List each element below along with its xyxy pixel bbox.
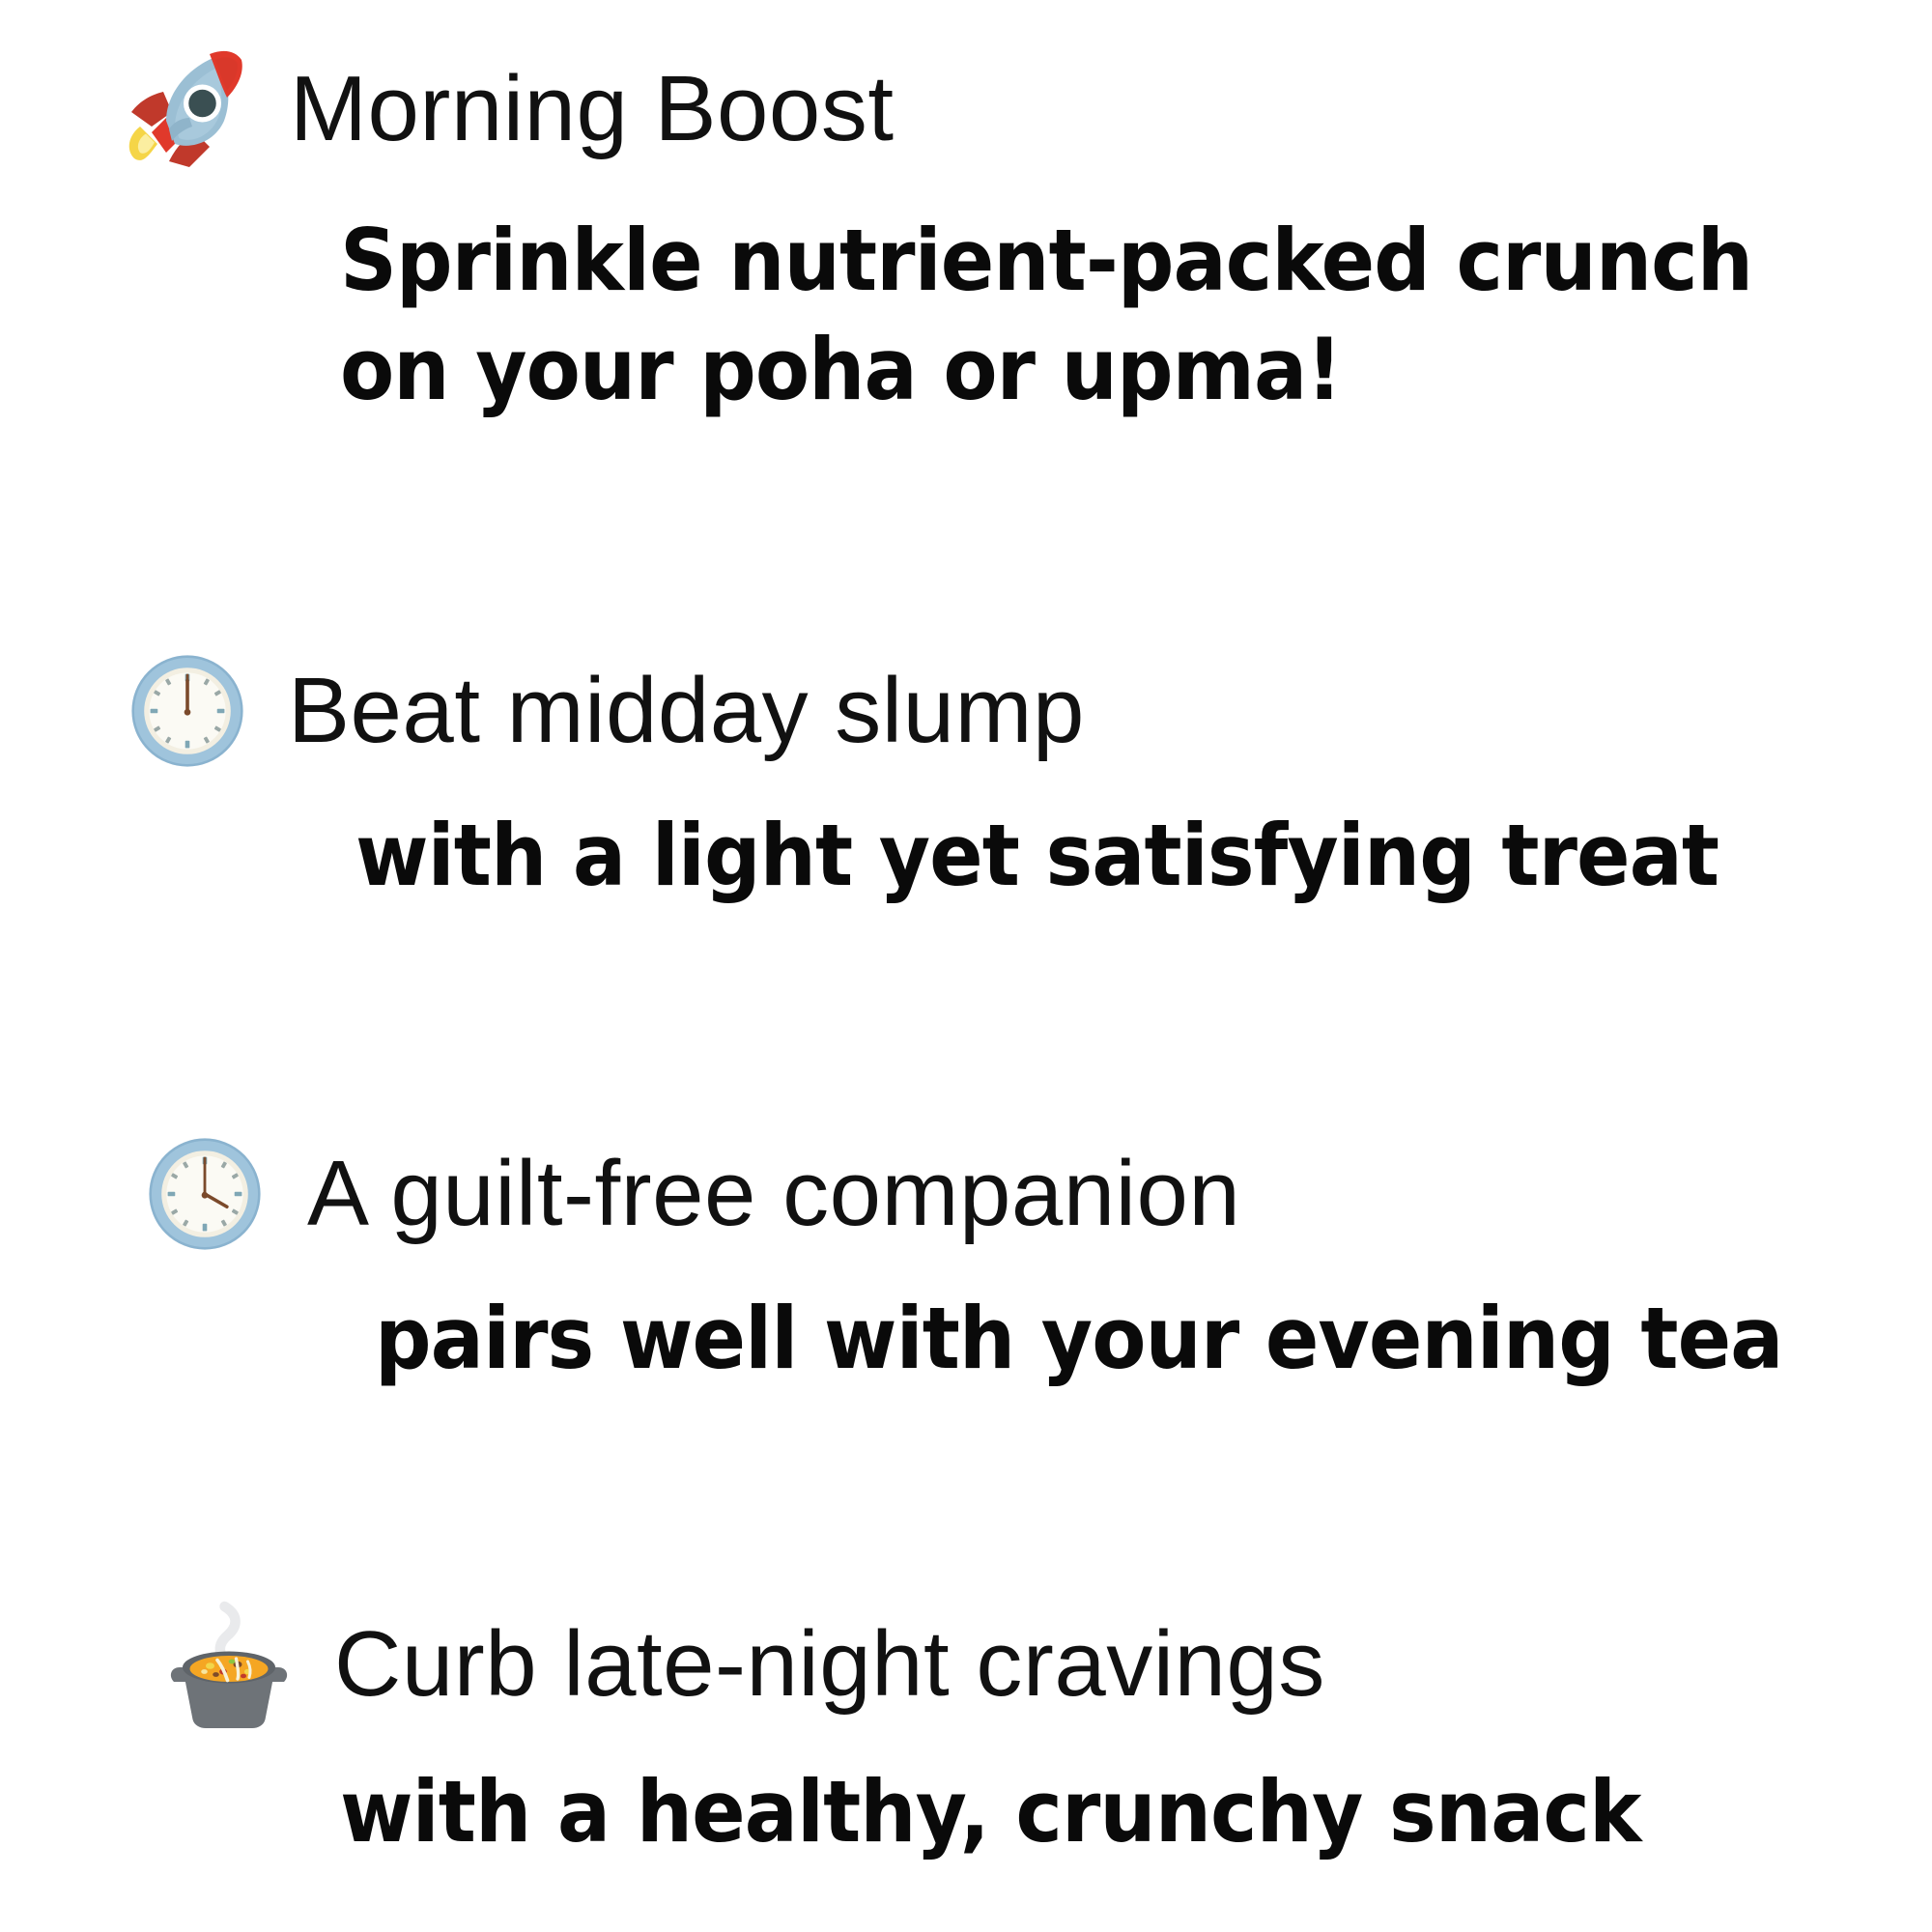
benefit-block-evening: A guilt-free companion pairs well with y… <box>0 1132 1932 1394</box>
pot-of-food-icon <box>156 1592 301 1737</box>
benefit-lines: Sprinkle nutrient-packed crunch on your … <box>0 207 1932 424</box>
benefit-lines: with a healthy, crunchy snack <box>0 1758 1932 1867</box>
benefit-lines: with a light yet satisfying treat <box>0 802 1932 911</box>
benefit-block-midday: Beat midday slump with a light yet satis… <box>0 649 1932 911</box>
benefit-line: Sprinkle nutrient-packed crunch <box>340 207 1821 316</box>
benefit-line: with a healthy, crunchy snack <box>340 1758 1821 1867</box>
benefit-lines: pairs well with your evening tea <box>0 1285 1932 1394</box>
benefit-line: pairs well with your evening tea <box>375 1285 1823 1394</box>
rocket-icon <box>108 37 253 182</box>
benefit-heading: Curb late-night cravings <box>334 1616 1325 1714</box>
benefit-heading-row: A guilt-free companion <box>0 1132 1932 1256</box>
benefit-block-morning: Morning Boost Sprinkle nutrient-packed c… <box>0 37 1932 424</box>
clock-four-oclock-icon <box>143 1132 267 1256</box>
benefit-line: with a light yet satisfying treat <box>355 802 1822 911</box>
poster-canvas: Morning Boost Sprinkle nutrient-packed c… <box>0 0 1932 1932</box>
benefit-heading: Beat midday slump <box>288 663 1085 760</box>
benefit-block-latenight: Curb late-night cravings with a healthy,… <box>0 1592 1932 1867</box>
benefit-heading-row: Morning Boost <box>0 37 1932 182</box>
benefit-heading: A guilt-free companion <box>307 1146 1240 1243</box>
benefit-heading-row: Curb late-night cravings <box>0 1592 1932 1737</box>
benefit-heading: Morning Boost <box>290 61 894 158</box>
clock-twelve-oclock-icon <box>126 649 249 773</box>
benefit-line: on your poha or upma! <box>340 316 1821 425</box>
benefit-heading-row: Beat midday slump <box>0 649 1932 773</box>
